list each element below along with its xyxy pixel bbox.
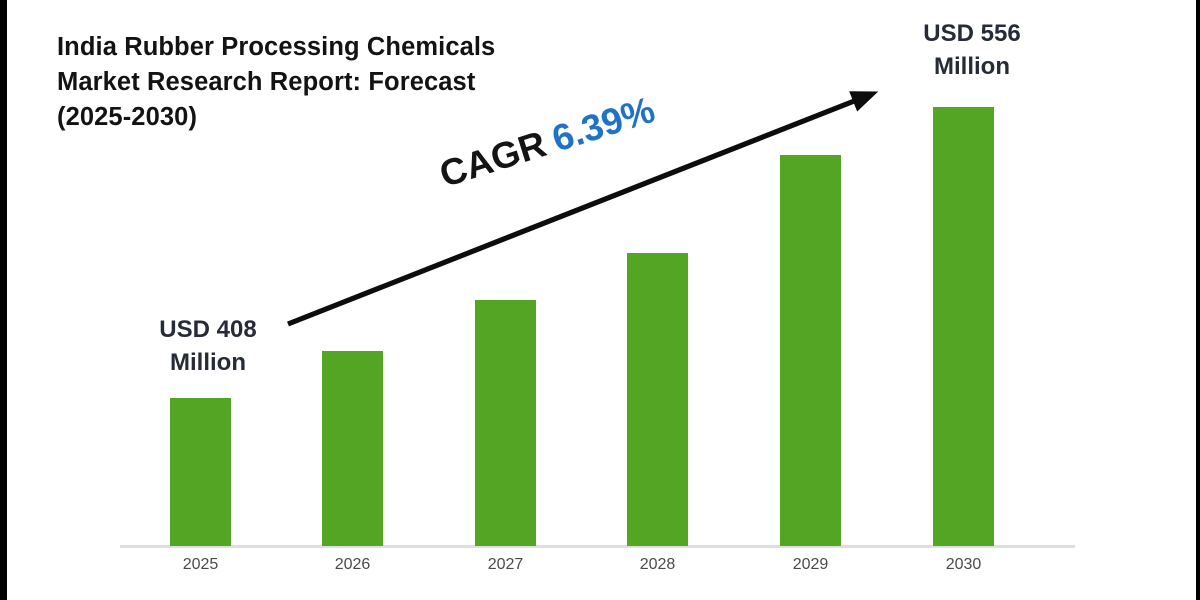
bar-2028 <box>627 253 688 546</box>
x-tick-2030: 2030 <box>914 556 1014 574</box>
callout-end-line-2: Million <box>898 50 1046 83</box>
x-axis-line <box>120 545 1075 548</box>
bar-2027 <box>475 300 536 546</box>
callout-end-line-1: USD 556 <box>898 17 1046 50</box>
bar-2025 <box>170 398 231 546</box>
x-tick-2026: 2026 <box>303 556 403 574</box>
x-tick-2025: 2025 <box>151 556 251 574</box>
x-tick-2029: 2029 <box>761 556 861 574</box>
callout-start-value: USD 408 Million <box>143 313 273 379</box>
callout-start-line-2: Million <box>143 346 273 379</box>
callout-end-value: USD 556 Million <box>898 17 1046 83</box>
chart-canvas: India Rubber Processing Chemicals Market… <box>0 0 1200 600</box>
bar-2026 <box>322 351 383 546</box>
x-tick-2027: 2027 <box>456 556 556 574</box>
callout-start-line-1: USD 408 <box>143 313 273 346</box>
bar-2029 <box>780 155 841 546</box>
bar-2030 <box>933 107 994 546</box>
plot-area: 202520262027202820292030 <box>0 0 1200 600</box>
x-tick-2028: 2028 <box>608 556 708 574</box>
